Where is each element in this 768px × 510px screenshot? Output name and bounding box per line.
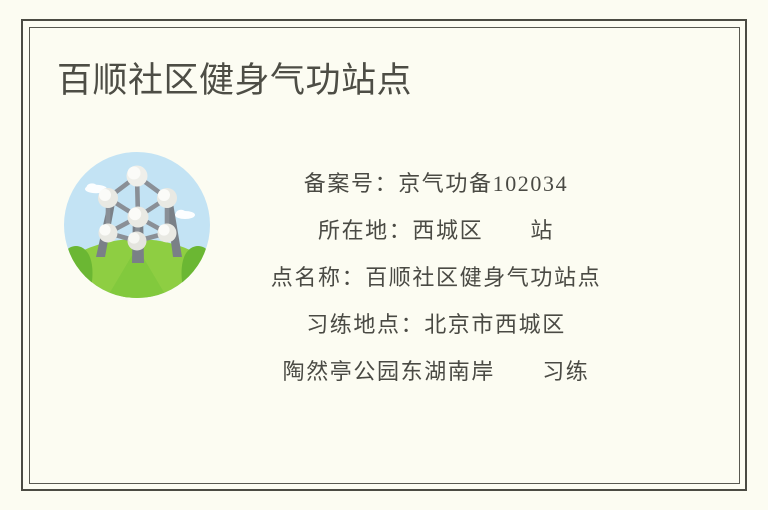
station-info-block: 备案号：京气功备102034 所在地：西城区 站 点名称：百顺社区健身气功站点 … — [210, 160, 662, 395]
info-line-practice-place-cont: 陶然亭公园东湖南岸 习练 — [210, 348, 662, 395]
info-line-station-name: 点名称：百顺社区健身气功站点 — [210, 254, 662, 301]
info-line-location: 所在地：西城区 站 — [210, 207, 662, 254]
info-line-record-number: 备案号：京气功备102034 — [210, 160, 662, 207]
page-title: 百顺社区健身气功站点 — [57, 58, 412, 104]
info-line-practice-place: 习练地点：北京市西城区 — [210, 301, 662, 348]
atomium-landmark-icon — [63, 151, 211, 299]
station-card: 百顺社区健身气功站点 — [0, 0, 768, 510]
